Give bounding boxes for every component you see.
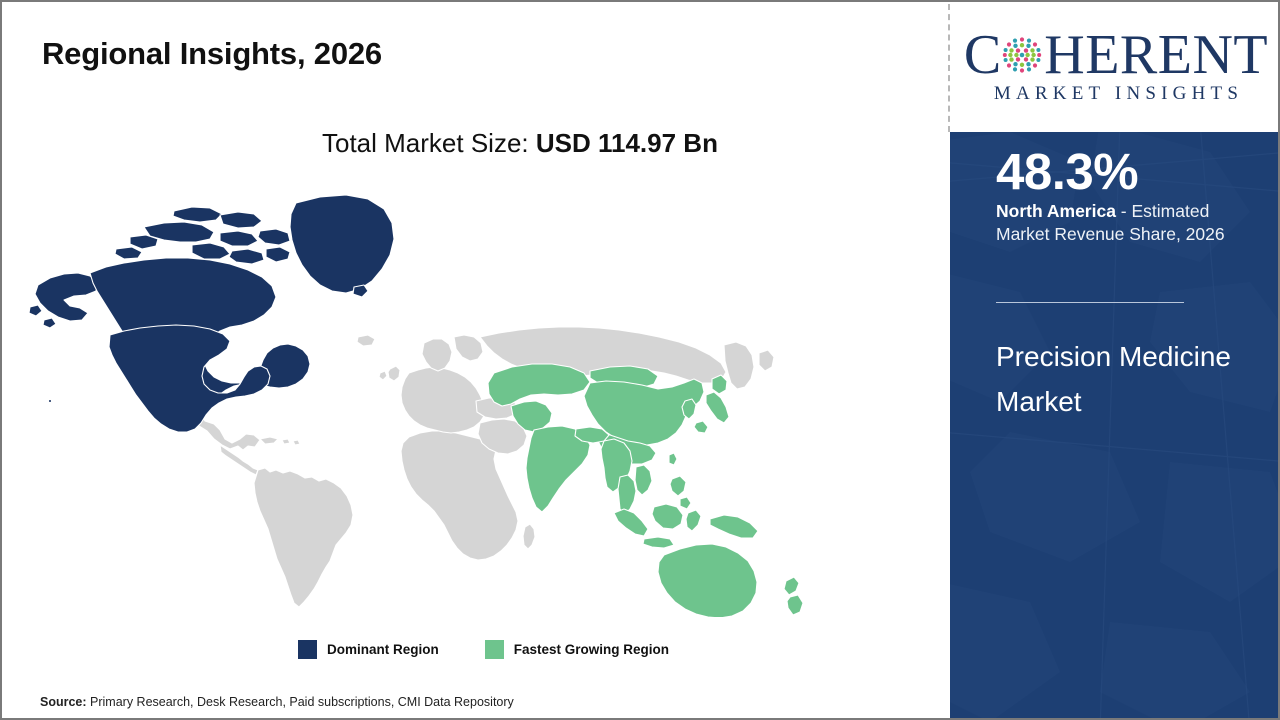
total-market-size: Total Market Size: USD 114.97 Bn (322, 128, 718, 159)
infographic-page: Regional Insights, 2026 Total Market Siz… (0, 0, 1280, 720)
dotted-globe-icon (1001, 34, 1043, 76)
stat-panel: 48.3% North America - Estimated Market R… (950, 132, 1280, 720)
source-label: Source: (40, 695, 87, 709)
square-swatch-icon (298, 640, 317, 659)
total-market-size-value: USD 114.97 Bn (536, 128, 718, 158)
logo-wordmark-text: HERENT (1044, 27, 1268, 83)
logo-letter-c: C (964, 27, 1001, 83)
stat-divider-rule (996, 302, 1184, 303)
stat-description: North America - Estimated Market Revenue… (996, 200, 1264, 247)
world-map (24, 187, 836, 617)
logo-tagline: MARKET INSIGHTS (989, 83, 1243, 105)
market-title: Precision Medicine Market (996, 334, 1258, 425)
world-map-svg (24, 187, 836, 617)
page-title: Regional Insights, 2026 (42, 36, 382, 72)
source-text: Primary Research, Desk Research, Paid su… (87, 695, 514, 709)
right-panel: C (950, 2, 1280, 720)
stat-percentage: 48.3% (996, 146, 1138, 197)
square-swatch-icon (485, 640, 504, 659)
legend-label-fastest-growing: Fastest Growing Region (514, 642, 669, 657)
legend-item-dominant: Dominant Region (298, 640, 439, 659)
logo-wordmark: C (964, 29, 1268, 81)
map-region-fastest-growing-asia-pacific (488, 364, 803, 617)
stat-content: 48.3% North America - Estimated Market R… (950, 132, 1280, 720)
total-market-size-label: Total Market Size: (322, 128, 536, 158)
legend-label-dominant: Dominant Region (327, 642, 439, 657)
legend-item-fastest-growing: Fastest Growing Region (485, 640, 669, 659)
source-note: Source: Primary Research, Desk Research,… (40, 695, 514, 709)
map-region-dominant-north-america (29, 195, 394, 432)
left-panel: Regional Insights, 2026 Total Market Siz… (2, 2, 950, 720)
brand-logo: C (950, 2, 1280, 132)
stat-region-name: North America (996, 201, 1116, 221)
map-legend: Dominant Region Fastest Growing Region (298, 640, 669, 659)
